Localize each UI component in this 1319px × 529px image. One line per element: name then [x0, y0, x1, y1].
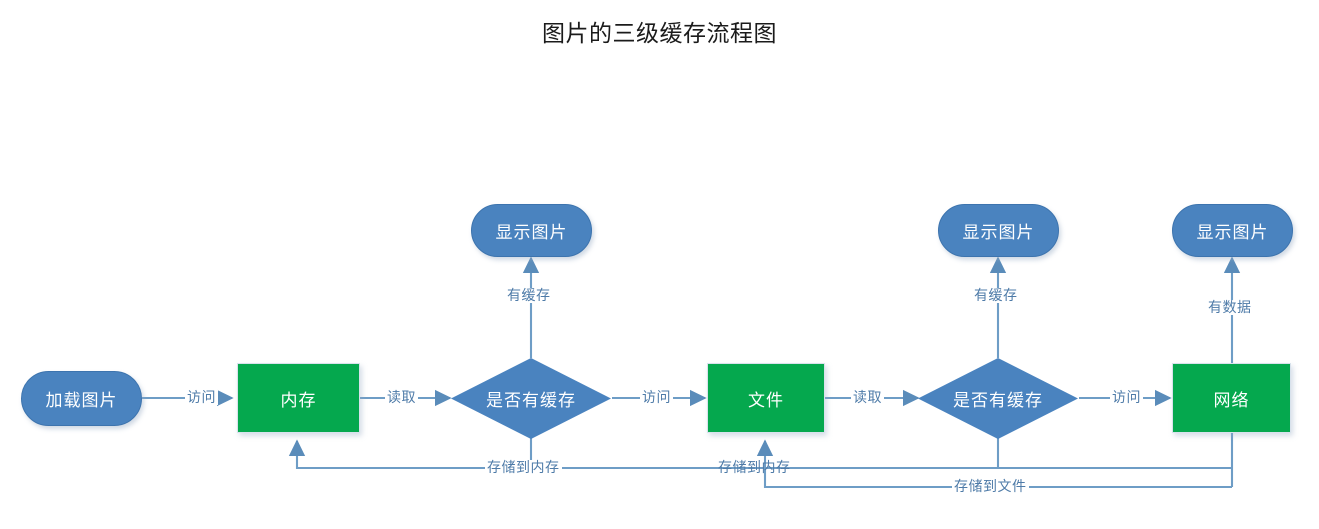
- edge-label-decide1-to-show1: 有缓存: [505, 288, 553, 303]
- node-load-image-label: 加载图片: [46, 386, 118, 411]
- edge-label-store-to-file: 存储到文件: [952, 479, 1029, 494]
- edge-label-decide2-to-network: 访问: [1110, 390, 1143, 405]
- flowchart-canvas: 图片的三级缓存流程图: [0, 0, 1319, 529]
- node-show-image-1-label: 显示图片: [496, 218, 568, 243]
- node-show-image-3[interactable]: 显示图片: [1172, 204, 1293, 257]
- connector-layer: [0, 0, 1319, 529]
- node-memory-label: 内存: [281, 386, 317, 411]
- node-show-image-2[interactable]: 显示图片: [938, 204, 1059, 257]
- node-file-label: 文件: [748, 386, 784, 411]
- node-network-label: 网络: [1214, 386, 1250, 411]
- edge-label-memory-to-decide1: 读取: [385, 390, 418, 405]
- node-network[interactable]: 网络: [1172, 363, 1291, 433]
- node-memory[interactable]: 内存: [237, 363, 360, 433]
- edge-label-network-to-show3: 有数据: [1206, 300, 1254, 315]
- edge-label-file-to-decide2: 读取: [851, 390, 884, 405]
- node-show-image-2-label: 显示图片: [963, 218, 1035, 243]
- node-show-image-3-label: 显示图片: [1197, 218, 1269, 243]
- edge-label-decide2-to-show2: 有缓存: [972, 288, 1020, 303]
- node-load-image[interactable]: 加载图片: [21, 371, 142, 426]
- node-file[interactable]: 文件: [707, 363, 825, 433]
- edge-label-load-to-memory: 访问: [185, 390, 218, 405]
- edge-label-store-to-memory-1: 存储到内存: [485, 460, 562, 475]
- node-decision-cache-2[interactable]: 是否有缓存: [918, 358, 1078, 439]
- node-decision-cache-1[interactable]: 是否有缓存: [451, 358, 611, 439]
- node-show-image-1[interactable]: 显示图片: [471, 204, 592, 257]
- edge-label-store-to-memory-2: 存储到内存: [716, 460, 793, 475]
- edge-label-decide1-to-file: 访问: [640, 390, 673, 405]
